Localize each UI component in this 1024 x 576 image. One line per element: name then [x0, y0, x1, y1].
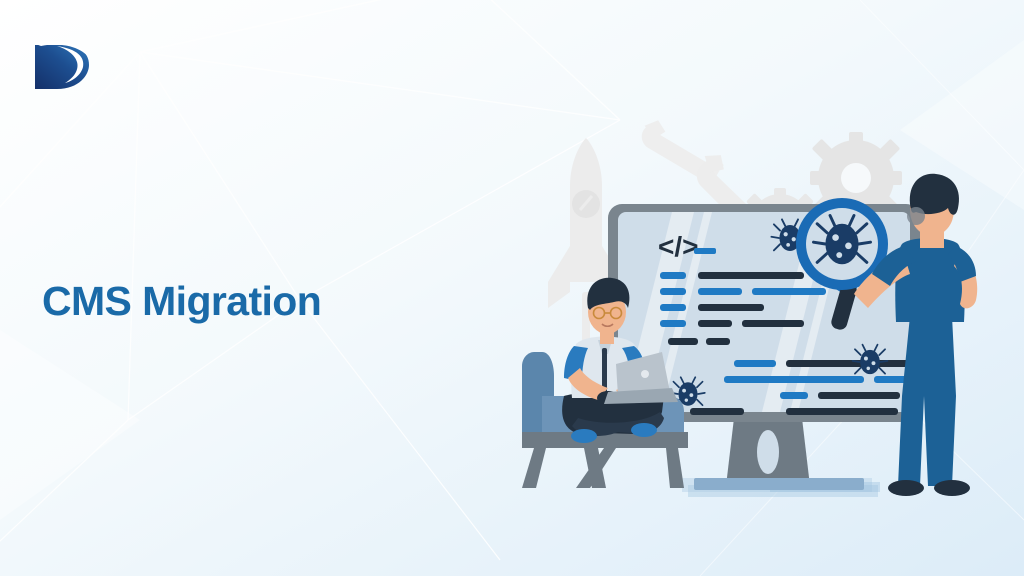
cms-migration-illustration: </> — [512, 96, 1024, 526]
banner: CMS Migration — [0, 0, 1024, 576]
code-line — [724, 376, 920, 383]
standing-developer-ear-headphone — [907, 207, 925, 225]
code-tag-text: </> — [658, 231, 698, 262]
shoe — [888, 480, 924, 496]
monitor-base — [694, 478, 864, 490]
code-line — [780, 392, 900, 399]
shoe — [934, 480, 970, 496]
code-line — [660, 304, 764, 311]
laptop-logo — [641, 370, 649, 378]
chair-leg — [666, 448, 684, 488]
letter-d-logo[interactable] — [27, 31, 99, 93]
seated-developer-foot — [631, 423, 657, 437]
page-title: CMS Migration — [42, 278, 321, 325]
monitor-stand-hole — [757, 430, 779, 474]
chair-leg — [522, 448, 546, 488]
code-line — [690, 408, 898, 415]
seated-developer-foot — [571, 429, 597, 443]
